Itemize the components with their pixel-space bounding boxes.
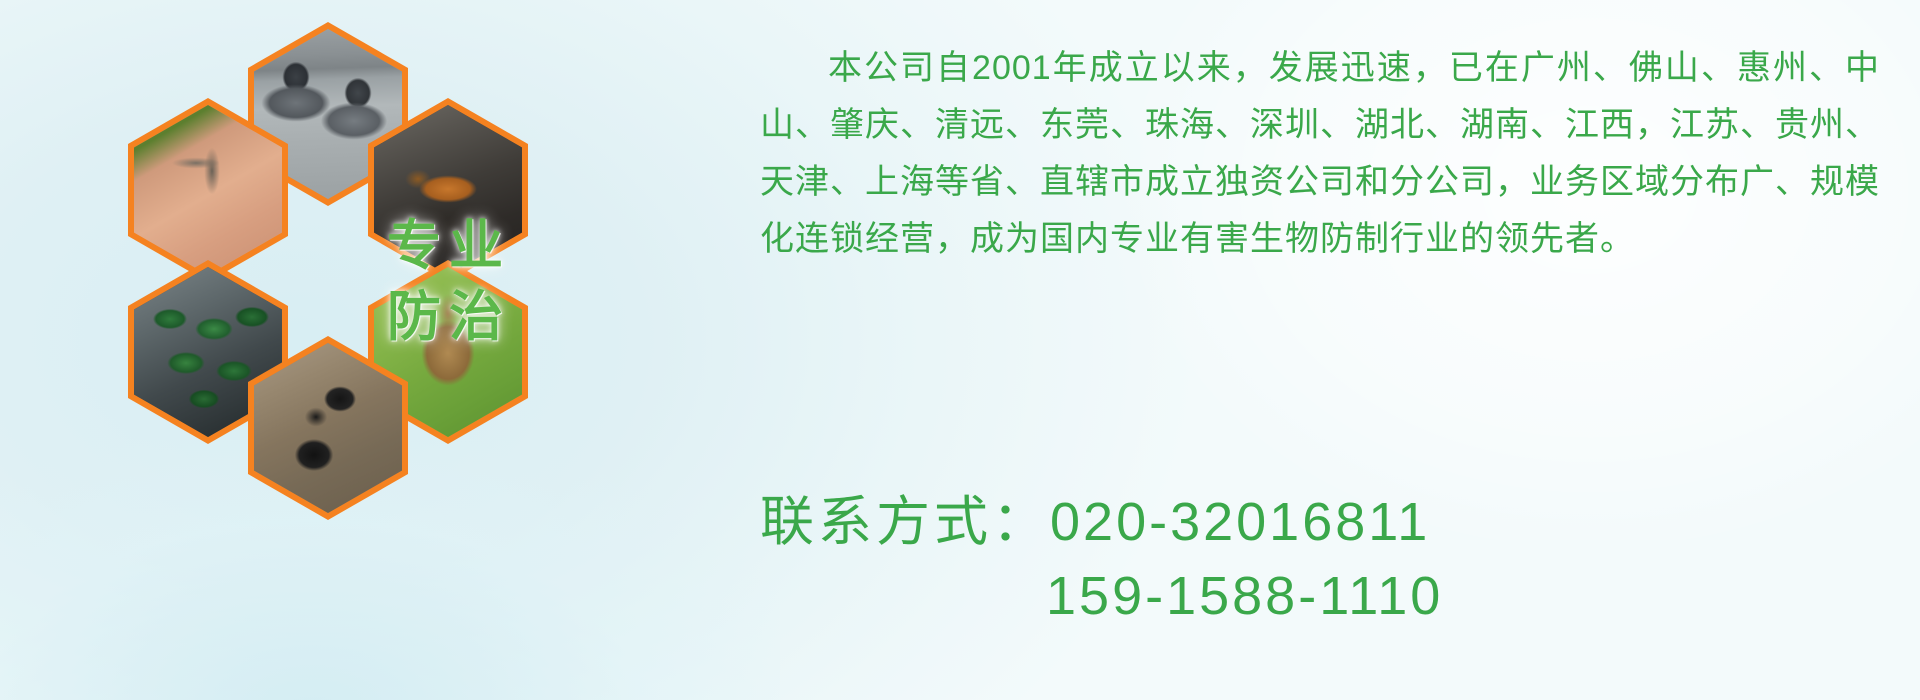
contact-secondary-row: 159-1588-1110 (760, 559, 1443, 633)
hexagon-photo-collage: 专业 防治 (96, 16, 596, 546)
company-description-text: 本公司自2001年成立以来，发展迅速，已在广州、佛山、惠州、中山、肇庆、清远、东… (760, 40, 1880, 268)
hexagon-ant-frame (254, 343, 402, 513)
hexagon-cockroach-frame (374, 105, 522, 275)
cockroach-photo (374, 105, 522, 275)
company-description: 本公司自2001年成立以来，发展迅速，已在广州、佛山、惠州、中山、肇庆、清远、东… (760, 40, 1880, 268)
contact-phone-secondary[interactable]: 159-1588-1110 (1046, 566, 1443, 626)
ant-photo (254, 343, 402, 513)
mosquito-photo (134, 105, 282, 275)
contact-block: 联系方式：020-32016811 159-1588-1110 (760, 485, 1443, 633)
promo-banner: 专业 防治 本公司自2001年成立以来，发展迅速，已在广州、佛山、惠州、中山、肇… (0, 0, 1920, 700)
contact-label: 联系方式： (760, 492, 1050, 552)
hexagon-mosquito-frame (134, 105, 282, 275)
contact-primary-row: 联系方式：020-32016811 (760, 485, 1443, 559)
contact-phone-primary[interactable]: 020-32016811 (1050, 492, 1430, 552)
